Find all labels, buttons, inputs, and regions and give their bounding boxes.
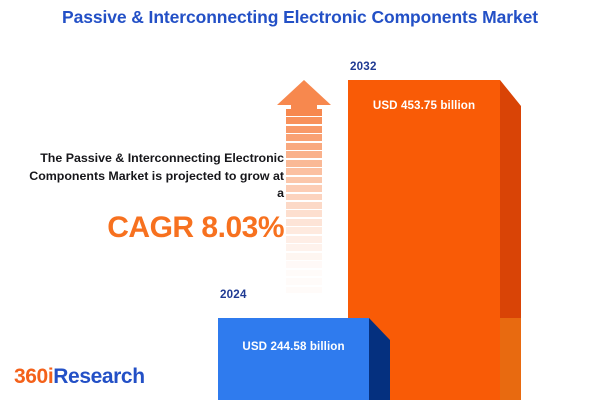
arrow-stripe [286, 160, 322, 167]
bar-2024-value-label: USD 244.58 billion [218, 340, 369, 353]
bar-2024-side-face [369, 318, 390, 400]
arrow-stripe [286, 278, 322, 285]
arrow-stripe [286, 244, 322, 251]
arrow-stripe [286, 177, 322, 184]
arrow-stripe [286, 194, 322, 201]
arrow-stripe [286, 270, 322, 277]
arrow-stripe [286, 253, 322, 260]
cagr-value: CAGR 8.03% [22, 211, 284, 244]
brand-logo-blue: Research [53, 365, 144, 388]
infographic-canvas: Passive & Interconnecting Electronic Com… [0, 0, 600, 400]
arrow-stripe [286, 202, 322, 209]
growth-arrow-icon [277, 80, 331, 295]
arrow-stripe [286, 261, 322, 268]
arrow-stripe [286, 151, 322, 158]
brand-logo: 360iResearch [14, 365, 145, 389]
arrow-stripe [286, 117, 322, 124]
arrow-up-head-icon [277, 80, 331, 110]
bar-label-2032: 2032 [350, 60, 377, 73]
arrow-stripe [286, 287, 322, 294]
arrow-stripe [286, 185, 322, 192]
arrow-stripe [286, 134, 322, 141]
brand-logo-orange: 360i [14, 365, 53, 388]
arrow-stripe [286, 227, 322, 234]
arrow-stripe [286, 143, 322, 150]
arrow-stripe [286, 210, 322, 217]
arrow-stripe [286, 219, 322, 226]
arrow-stripe [286, 109, 322, 116]
arrow-shaft [286, 109, 322, 295]
bar-2024: USD 244.58 billion [218, 318, 390, 400]
arrow-stripe [286, 168, 322, 175]
bar-label-2024: 2024 [220, 288, 247, 301]
page-title: Passive & Interconnecting Electronic Com… [30, 6, 570, 29]
bar-2032-side-face-lower [500, 318, 521, 400]
statement-block: The Passive & Interconnecting Electronic… [22, 150, 284, 244]
bar-2024-front-face [218, 318, 369, 400]
arrow-stripe [286, 126, 322, 133]
arrow-stripe [286, 236, 322, 243]
growth-statement-text: The Passive & Interconnecting Electronic… [22, 150, 284, 203]
bar-2032-value-label: USD 453.75 billion [348, 99, 500, 112]
